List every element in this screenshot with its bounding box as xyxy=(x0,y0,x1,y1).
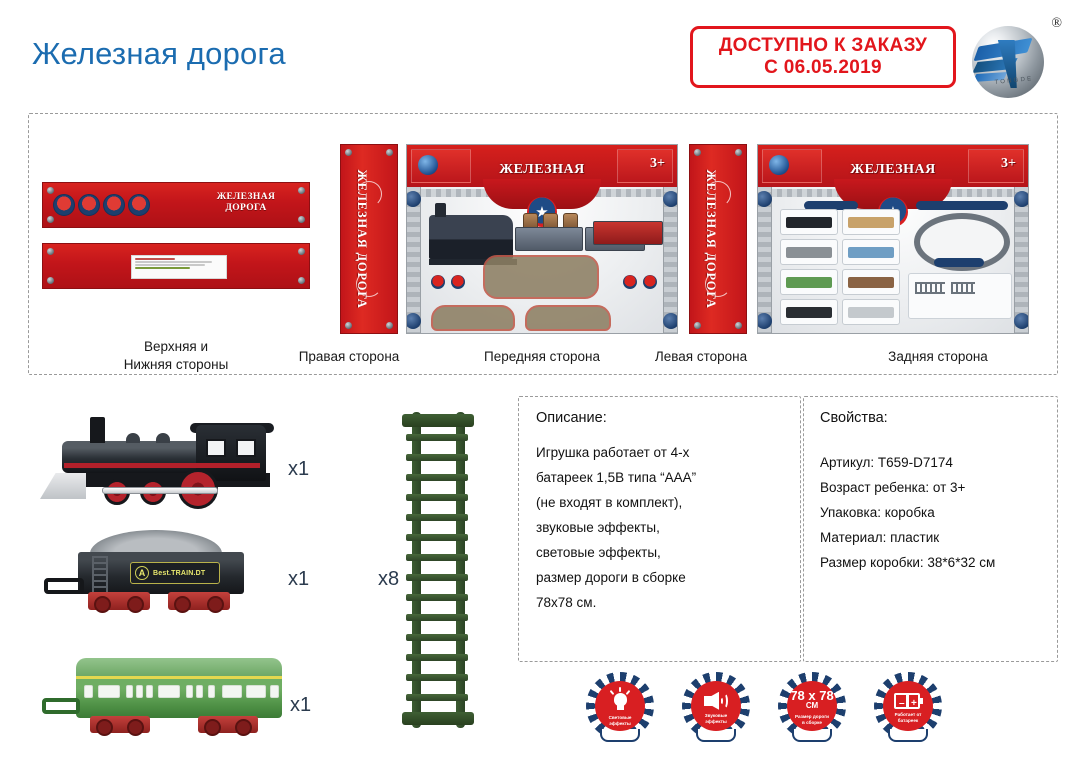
description-line: Игрушка работает от 4-х xyxy=(536,440,696,465)
back-scheme-tag xyxy=(934,258,984,267)
mini-badge-size-icon xyxy=(103,194,125,216)
badge-size-value: 78 x 78 xyxy=(790,689,833,702)
mini-badge-sound-icon xyxy=(78,194,100,216)
back-contents-grid xyxy=(780,209,900,325)
badge-size-unit: СМ xyxy=(806,702,818,711)
badge-track-size: 78 x 78 СМ Размер дороги в сборке xyxy=(778,672,846,740)
availability-stamp: ДОСТУПНО К ЗАКАЗУ С 06.05.2019 xyxy=(690,26,956,88)
registered-trademark-icon: ® xyxy=(1051,16,1062,32)
caption-back-side: Задняя сторона xyxy=(838,348,1038,366)
qty-track: x8 xyxy=(378,568,399,591)
back-item-black-car xyxy=(780,299,838,325)
caption-front-side: Передняя сторона xyxy=(428,348,656,366)
back-item-wagon-1 xyxy=(842,209,900,235)
description-line: размер дороги в сборке xyxy=(536,565,696,590)
back-item-tank xyxy=(842,239,900,265)
caption-right-side: Правая сторона xyxy=(296,348,402,366)
tender-brand-plate: A Best.TRAIN.DT xyxy=(130,562,220,584)
mini-badge-battery-icon xyxy=(128,194,150,216)
badge-battery-powered: – + Работает от батареек xyxy=(874,672,942,740)
stamp-line-1: ДОСТУПНО К ЗАКАЗУ xyxy=(719,35,927,57)
page-header: Железная дорога ДОСТУПНО К ЗАКАЗУ С 06.0… xyxy=(0,0,1086,108)
box-side-top: ЖЕЛЕЗНАЯ ДОРОГА xyxy=(42,182,310,228)
front-globe-icon xyxy=(418,155,438,175)
front-window-cutout-2 xyxy=(431,305,515,331)
box-top-badges xyxy=(53,194,150,216)
back-assembled-size-tag xyxy=(916,201,1008,210)
property-box-size: Размер коробки: 38*6*32 см xyxy=(820,550,995,575)
product-tender-car: A Best.TRAIN.DT xyxy=(28,528,268,618)
property-age: Возраст ребенка: от 3+ xyxy=(820,475,995,500)
badge-battery-caption: Работает от батареек xyxy=(891,712,926,723)
badge-size-caption: Размер дороги в сборке xyxy=(791,714,833,725)
battery-icon: – + xyxy=(894,693,922,709)
feature-badges: Световые эффекты Звуковые эффекты 78 x 7 xyxy=(586,672,942,740)
box-side-bottom xyxy=(42,243,310,289)
property-packaging: Упаковка: коробка xyxy=(820,500,995,525)
back-item-brown-car xyxy=(842,269,900,295)
product-spec-sheet: Железная дорога ДОСТУПНО К ЗАКАЗУ С 06.0… xyxy=(0,0,1086,768)
back-item-tanker xyxy=(842,299,900,325)
light-bulb-icon xyxy=(610,690,630,712)
box-side-right: ЖЕЛЕЗНАЯ ДОРОГА xyxy=(340,144,398,334)
tender-logo-text: Best.TRAIN.DT xyxy=(153,570,205,577)
speaker-icon xyxy=(704,692,728,710)
back-artwork: ★ xyxy=(758,187,1028,333)
caption-left-side: Левая сторона xyxy=(646,348,756,366)
description-heading: Описание: xyxy=(536,410,607,426)
certification-label xyxy=(131,255,227,279)
property-material: Материал: пластик xyxy=(820,525,995,550)
front-age-badge: 3+ xyxy=(650,156,665,172)
description-line: (не входят в комплект), xyxy=(536,490,696,515)
properties-body: Артикул: T659-D7174 Возраст ребенка: от … xyxy=(820,450,995,575)
qty-passenger-car: x1 xyxy=(290,694,311,717)
front-wagon-3 xyxy=(593,221,663,245)
back-item-locomotive xyxy=(780,209,838,235)
box-front-panel: ЖЕЛЕЗНАЯ ДОРОГА 3+ ★ xyxy=(406,144,678,334)
box-top-brand: ЖЕЛЕЗНАЯ ДОРОГА xyxy=(197,192,295,214)
badge-sound-effects: Звуковые эффекты xyxy=(682,672,750,740)
badge-sound-caption: Звуковые эффекты xyxy=(701,713,732,724)
product-locomotive xyxy=(28,415,268,510)
product-track-piece xyxy=(392,412,488,728)
qty-tender: x1 xyxy=(288,568,309,591)
tender-logo-mark: A xyxy=(135,566,149,580)
mini-badge-light-icon xyxy=(53,194,75,216)
logo-sphere-icon: TONGDE xyxy=(972,26,1044,98)
back-age-badge: 3+ xyxy=(1001,156,1016,172)
product-passenger-car xyxy=(28,652,290,738)
description-line: 78x78 см. xyxy=(536,590,696,615)
front-wagon-1 xyxy=(515,227,583,251)
back-item-green-car xyxy=(780,269,838,295)
back-scheme-box xyxy=(908,273,1012,319)
front-window-cutout-1 xyxy=(483,255,599,299)
back-globe-icon xyxy=(769,155,789,175)
back-item-rails xyxy=(780,239,838,265)
property-article: Артикул: T659-D7174 xyxy=(820,450,995,475)
properties-heading: Свойства: xyxy=(820,410,888,426)
badge-light-caption: Световые эффекты xyxy=(605,715,636,726)
description-line: звуковые эффекты, xyxy=(536,515,696,540)
description-line: батареек 1,5В типа “ААА” xyxy=(536,465,696,490)
box-back-panel: ЖЕЛЕЗНАЯ ДОРОГА 3+ ★ xyxy=(757,144,1029,334)
tongde-logo: ® TONGDE xyxy=(968,16,1064,100)
box-left-brand: ЖЕЛЕЗНАЯ ДОРОГА xyxy=(703,154,733,324)
front-locomotive-illustration xyxy=(429,215,513,259)
front-artwork: ★ xyxy=(407,187,677,333)
stamp-line-2: С 06.05.2019 xyxy=(764,57,882,79)
badge-light-effects: Световые эффекты xyxy=(586,672,654,740)
description-line: световые эффекты, xyxy=(536,540,696,565)
qty-locomotive: x1 xyxy=(288,458,309,481)
box-right-brand: ЖЕЛЕЗНАЯ ДОРОГА xyxy=(354,154,384,324)
box-side-left: ЖЕЛЕЗНАЯ ДОРОГА xyxy=(689,144,747,334)
caption-top-bottom-sides: Верхняя и Нижняя стороны xyxy=(78,338,274,374)
page-title: Железная дорога xyxy=(32,36,286,72)
description-body: Игрушка работает от 4-х батареек 1,5В ти… xyxy=(536,440,696,615)
front-window-cutout-3 xyxy=(525,305,611,331)
